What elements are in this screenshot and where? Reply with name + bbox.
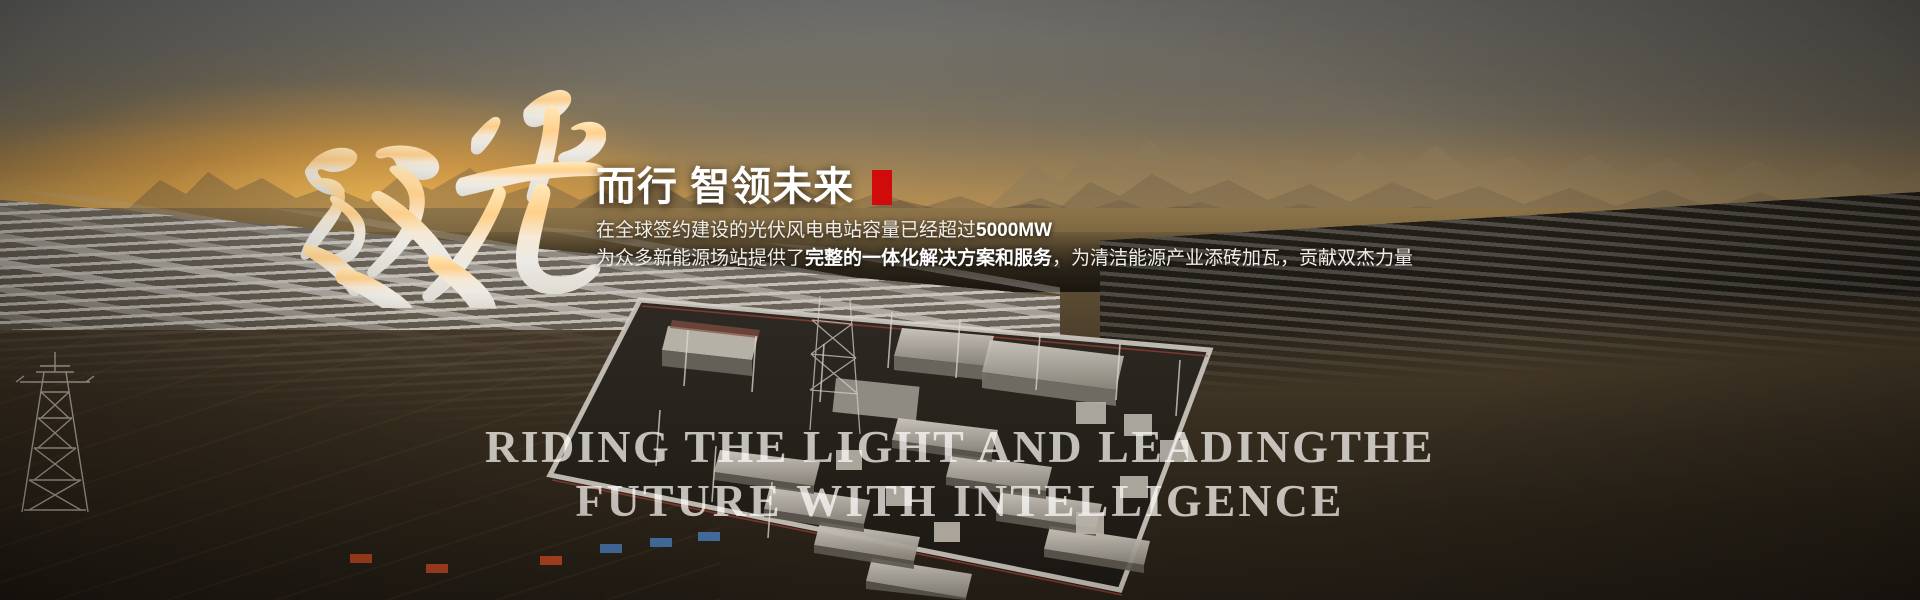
hero-text-block: 而行 智领未来 在全球签约建设的光伏风电电站容量已经超过5000MW 为众多新能… [596,164,1356,271]
headline-text: 而行 智领未来 [596,164,854,210]
hero-banner: 而行 智领未来 在全球签约建设的光伏风电电站容量已经超过5000MW 为众多新能… [0,0,1920,600]
site-banner-flags [240,520,760,580]
subtitle-line-2: 为众多新能源场站提供了完整的一体化解决方案和服务，为清洁能源产业添砖加瓦，贡献双… [596,247,1356,271]
subtitle-1-bold-1: 5000MW [976,220,1052,241]
headline: 而行 智领未来 [596,164,1356,210]
subtitle-line-1: 在全球签约建设的光伏风电电站容量已经超过5000MW [596,219,1356,243]
calligraphy-yuguang [286,58,606,308]
red-accent-mark [872,170,892,205]
subtitle-1-plain-1: 在全球签约建设的光伏风电电站容量已经超过 [596,220,976,241]
transmission-tower-icon [10,352,100,522]
subtitle-2-plain-2: ，为清洁能源产业添砖加瓦，贡献双杰力量 [1052,248,1413,269]
subtitle-2-plain-1: 为众多新能源场站提供了 [596,248,805,269]
subtitle-2-bold-1: 完整的一体化解决方案和服务 [805,248,1052,269]
